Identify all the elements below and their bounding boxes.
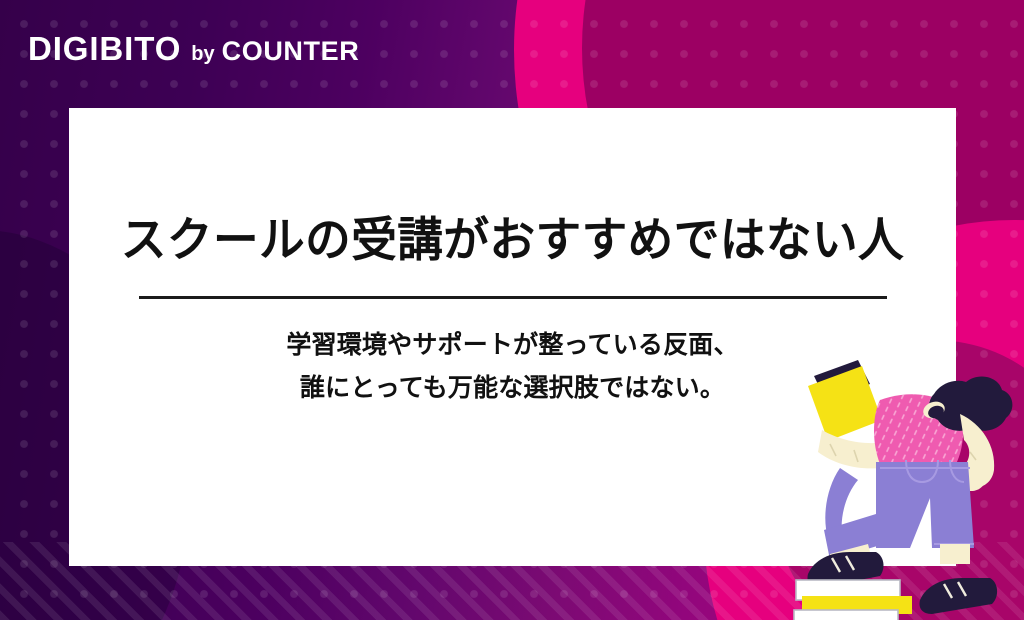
illustration-book-stack — [794, 580, 912, 620]
brand-name: DIGIBITO — [28, 32, 181, 65]
illustration-legs — [824, 468, 884, 560]
slide-canvas: DIGIBITO by COUNTER スクールの受講がおすすめではない人 学習… — [0, 0, 1024, 620]
brand-connector: by — [191, 44, 214, 64]
brand-partner: COUNTER — [222, 38, 360, 65]
illustration-person-reading — [784, 348, 1024, 620]
page-title: スクールの受講がおすすめではない人 — [82, 214, 942, 268]
title-divider — [139, 296, 887, 299]
brand-logo: DIGIBITO by COUNTER — [28, 32, 359, 65]
illustration-overalls — [876, 460, 974, 548]
illustration-book-held — [808, 360, 882, 441]
